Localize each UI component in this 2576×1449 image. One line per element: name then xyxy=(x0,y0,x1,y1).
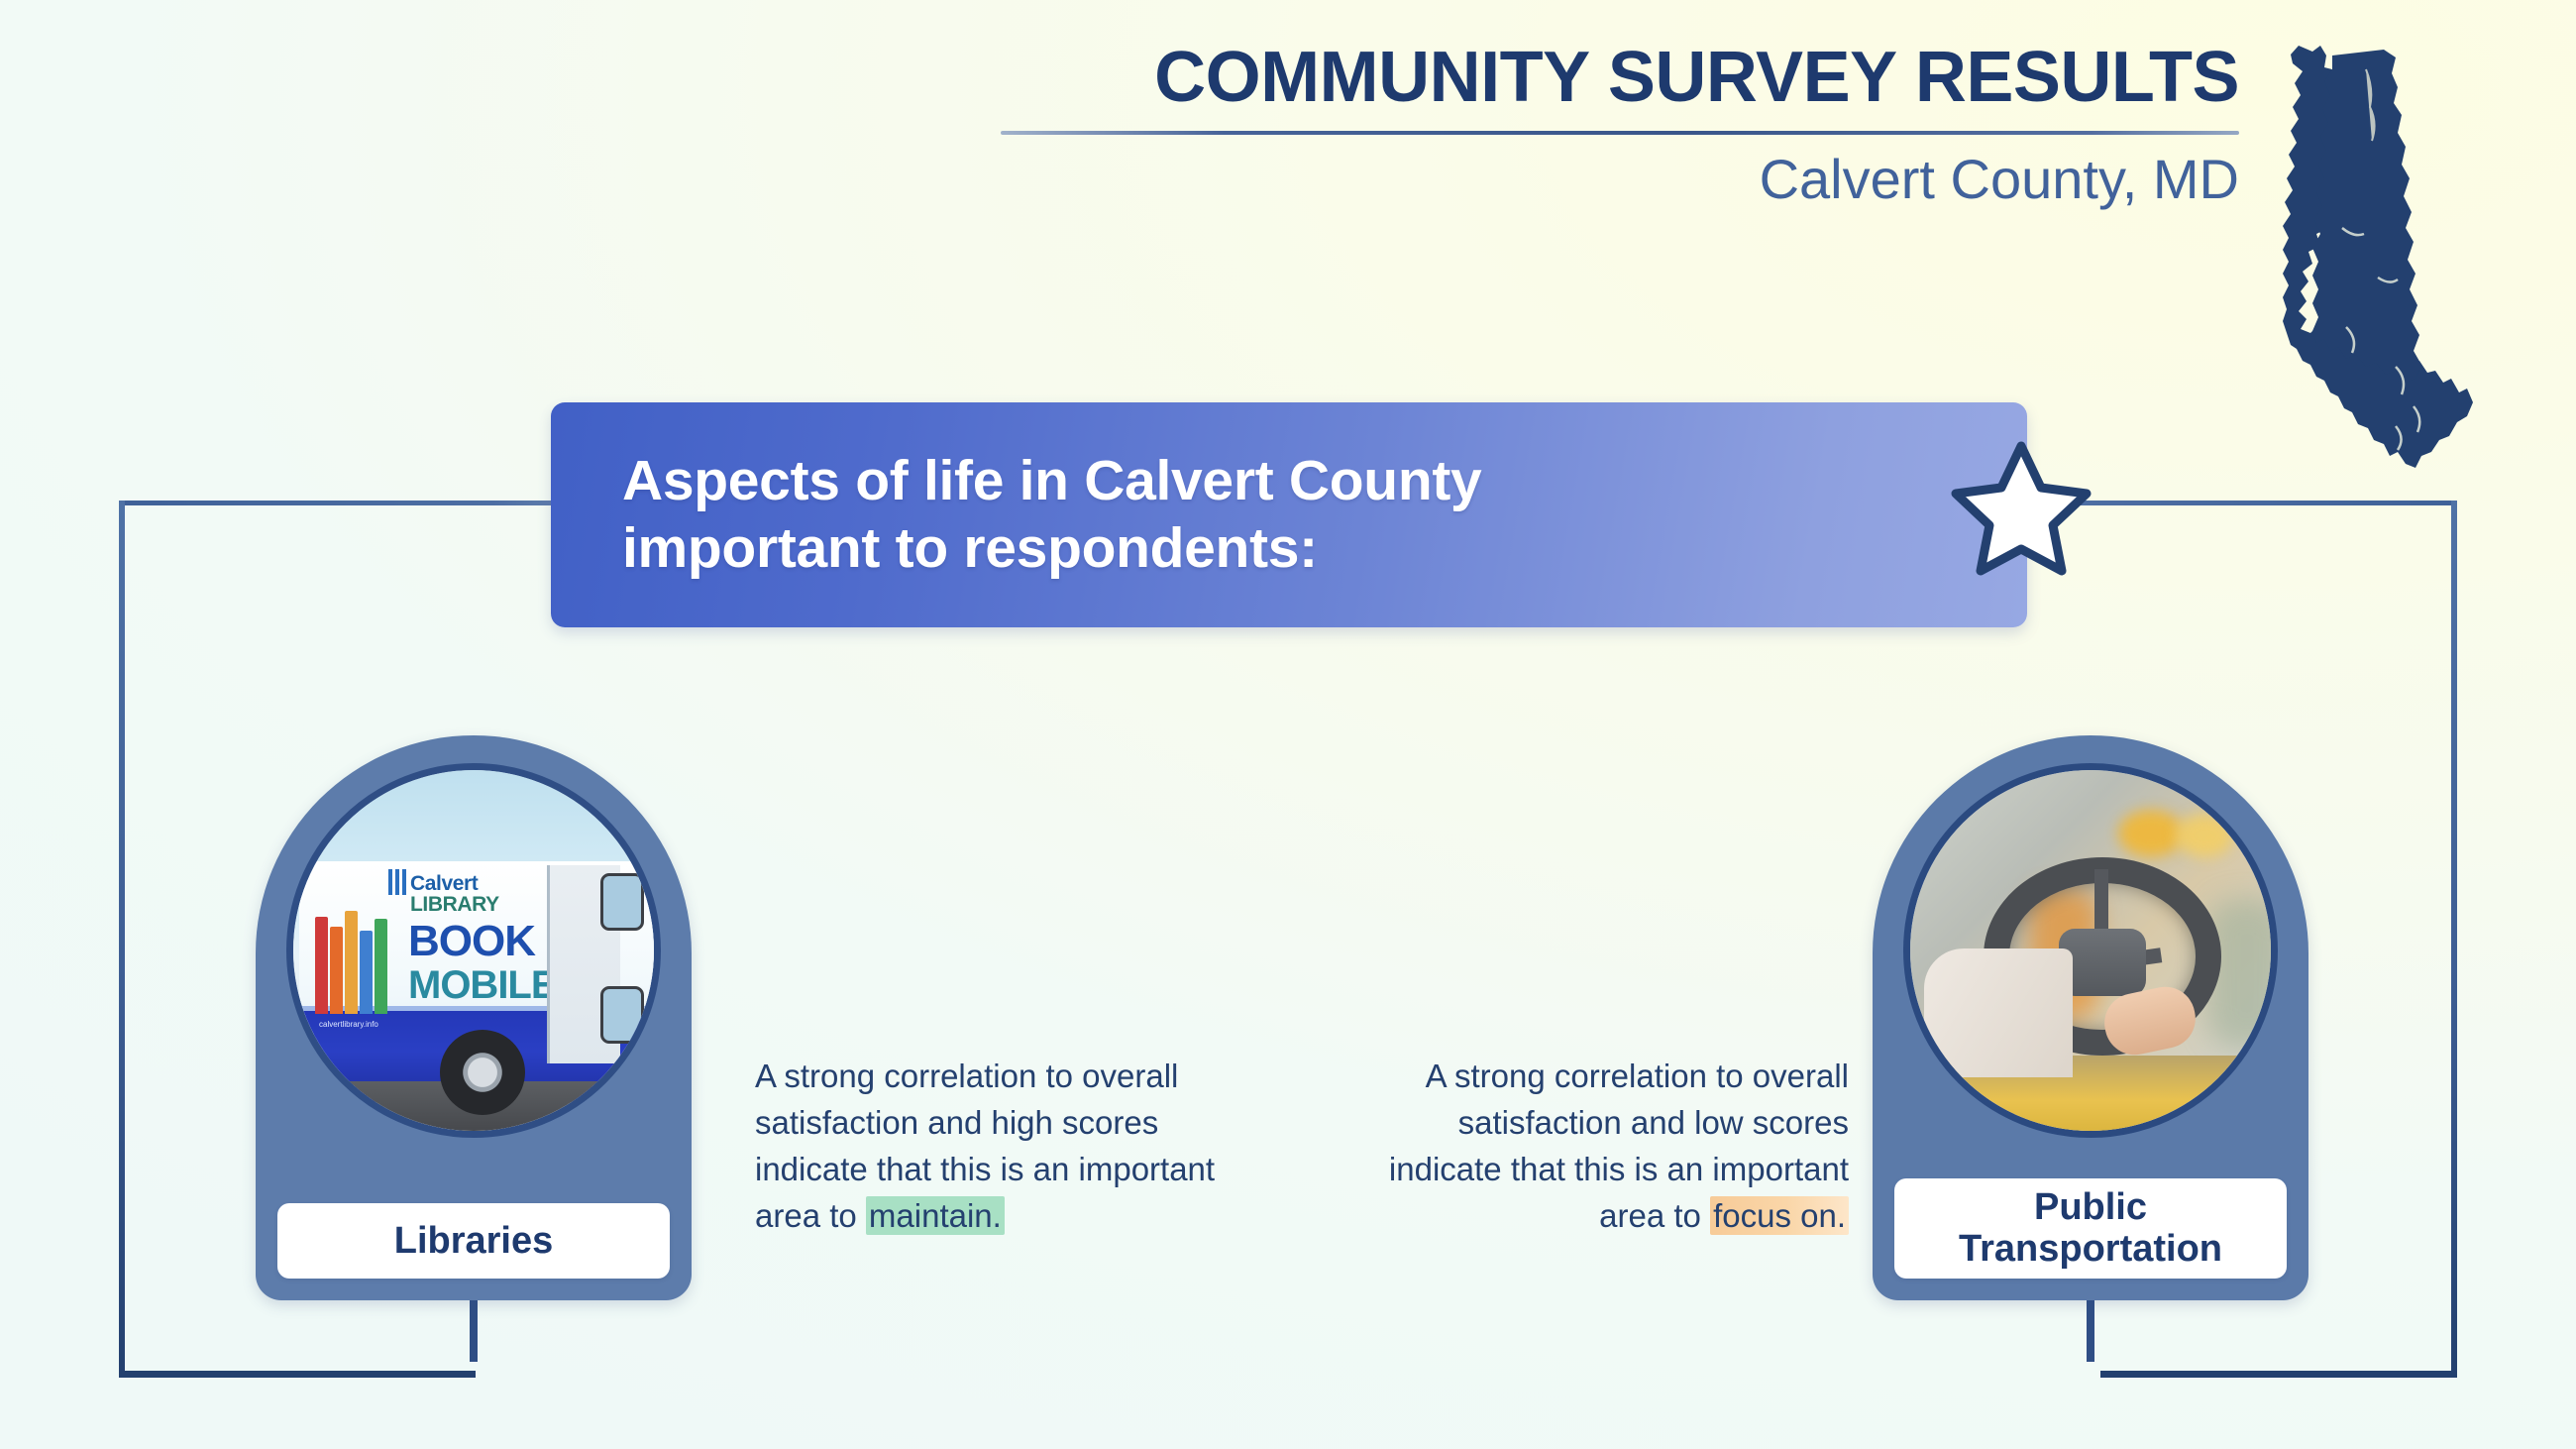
banner-headline: Aspects of life in Calvert County import… xyxy=(551,448,1481,582)
bokeh-light-a xyxy=(2118,810,2184,857)
blurb-transit-highlight: focus on. xyxy=(1710,1196,1849,1235)
bokeh-light-b xyxy=(2176,814,2233,857)
bookmobile-book-spines xyxy=(315,909,394,1014)
frame-bottom-right-edge xyxy=(2100,1371,2457,1378)
card-label-public-transportation: Public Transportation xyxy=(1894,1178,2287,1279)
card-stem xyxy=(2087,1300,2094,1362)
page-header: COMMUNITY SURVEY RESULTS Calvert County,… xyxy=(1001,42,2239,209)
blurb-libraries: A strong correlation to overall satisfac… xyxy=(755,1054,1221,1239)
star-icon xyxy=(1950,438,2093,577)
card-libraries[interactable]: Calvert LIBRARY BOOK MOBILE calvertlibra… xyxy=(256,735,692,1300)
banner-callout: Aspects of life in Calvert County import… xyxy=(551,402,2027,627)
photo-ring xyxy=(1903,763,2278,1138)
bookmobile-url: calvertlibrary.info xyxy=(319,1020,378,1029)
steering-wheel-photo xyxy=(1910,770,2271,1131)
page-subtitle: Calvert County, MD xyxy=(1001,151,2239,209)
title-divider xyxy=(1001,131,2239,135)
library-logo-bars xyxy=(388,869,408,895)
blurb-public-transportation: A strong correlation to overall satisfac… xyxy=(1383,1054,1849,1239)
card-public-transportation[interactable]: Public Transportation xyxy=(1873,735,2308,1300)
card-label-libraries: Libraries xyxy=(277,1203,670,1279)
frame-bottom-left-edge xyxy=(119,1371,476,1378)
photo-ring: Calvert LIBRARY BOOK MOBILE calvertlibra… xyxy=(286,763,661,1138)
card-frame: Public Transportation xyxy=(1873,735,2308,1300)
bookmobile-window-upper xyxy=(600,873,644,931)
card-frame: Calvert LIBRARY BOOK MOBILE calvertlibra… xyxy=(256,735,692,1300)
frame-right-edge xyxy=(2451,501,2457,1378)
bookmobile-wheel xyxy=(440,1030,525,1115)
brand-calvert: Calvert xyxy=(410,872,478,895)
page-title: COMMUNITY SURVEY RESULTS xyxy=(1001,42,2239,113)
bookmobile-word-mobile: MOBILE xyxy=(408,966,557,1004)
card-stem xyxy=(470,1300,478,1362)
frame-left-edge xyxy=(119,501,125,1378)
driver-arm xyxy=(1924,948,2073,1077)
calvert-county-map-icon xyxy=(2247,30,2524,486)
bookmobile-window-lower xyxy=(600,986,644,1044)
blurb-libraries-highlight: maintain. xyxy=(866,1196,1005,1235)
bookmobile-word-book: BOOK xyxy=(408,921,535,962)
bookmobile-photo: Calvert LIBRARY BOOK MOBILE calvertlibra… xyxy=(293,770,654,1131)
